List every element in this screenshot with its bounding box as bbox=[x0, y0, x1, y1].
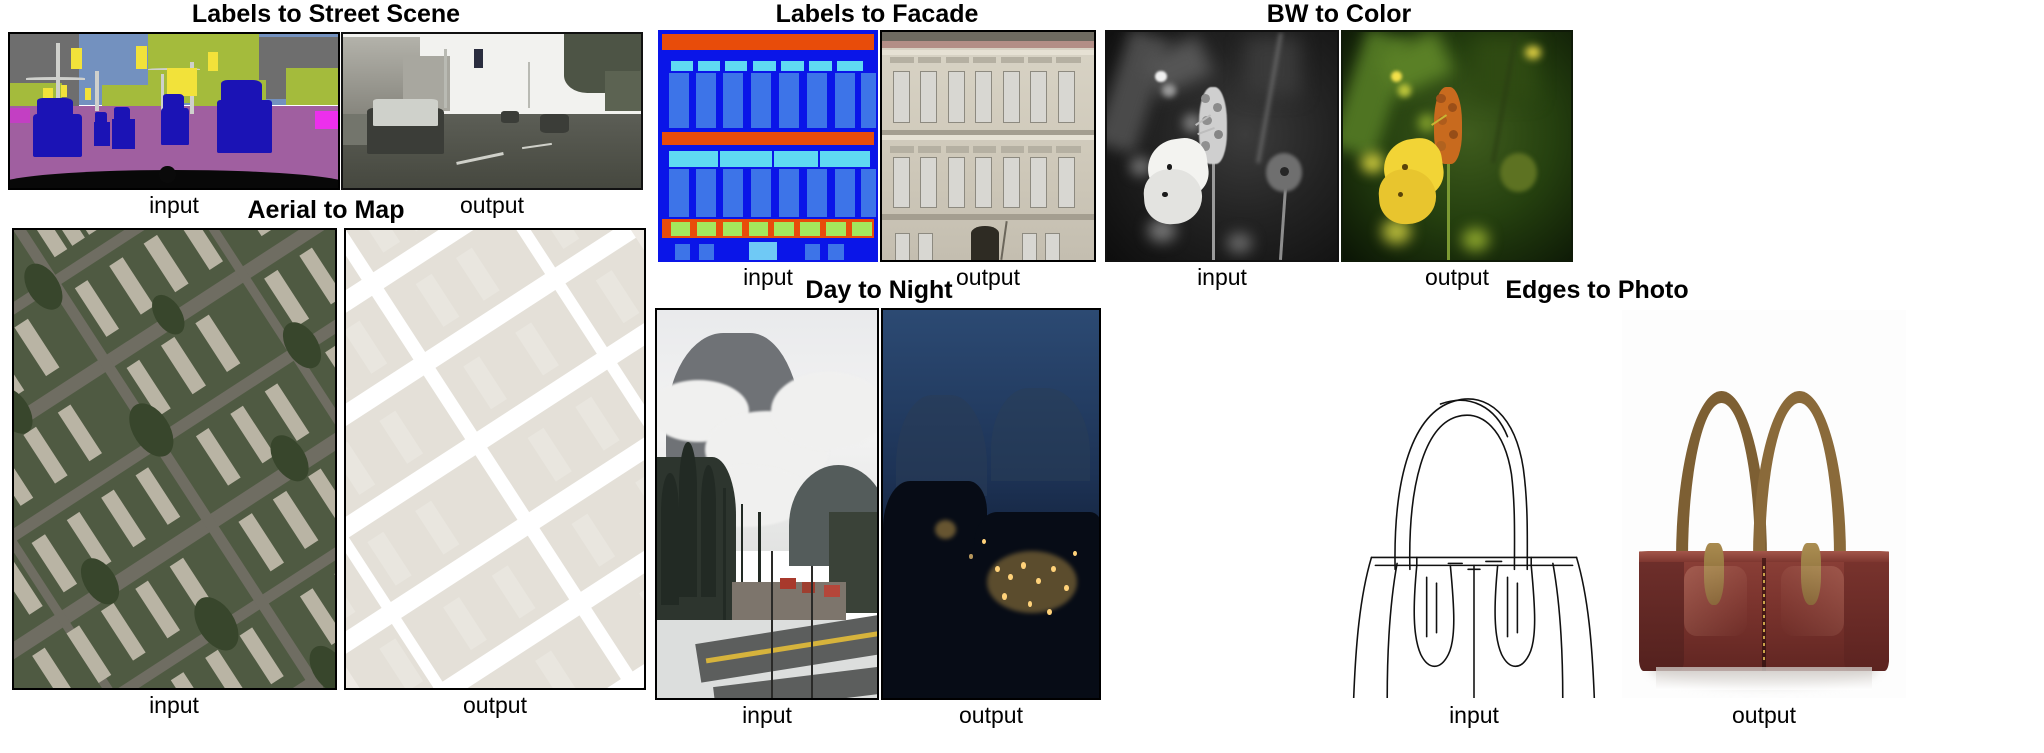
cell-input-bw-to-color: input bbox=[1104, 30, 1340, 289]
cell-output-edges-to-photo: output bbox=[1619, 308, 1909, 727]
facade-label-cornice bbox=[662, 132, 874, 145]
panel-labels-to-street-scene: Labels to Street Scene bbox=[8, 2, 644, 214]
facade-photo-cornice bbox=[882, 214, 1094, 219]
facade-photo-lintel bbox=[1001, 57, 1024, 62]
label-region-person bbox=[159, 166, 175, 183]
panel-title-edges-to-photo: Edges to Photo bbox=[1150, 278, 2044, 303]
facade-photo-lintel bbox=[890, 57, 913, 62]
photo-region-car bbox=[540, 114, 570, 132]
day-conifer bbox=[701, 465, 716, 597]
panel-title-day-to-night: Day to Night bbox=[654, 278, 1104, 303]
day-town-roof bbox=[780, 578, 795, 590]
facade-label-shop bbox=[723, 222, 742, 236]
facade-photo-window bbox=[1058, 71, 1075, 123]
caption-input-day: input bbox=[742, 703, 792, 727]
cell-input-labels-to-facade: input bbox=[657, 30, 879, 289]
facade-label-sill bbox=[837, 61, 863, 71]
label-region-pole bbox=[26, 77, 85, 79]
label-region-traffic-light bbox=[136, 46, 146, 69]
cell-input-edges-to-photo: input bbox=[1329, 308, 1619, 727]
image-pair-bw-to-color: input bbox=[1104, 30, 1574, 289]
facade-label-window bbox=[669, 169, 690, 217]
color-bokeh bbox=[1361, 153, 1384, 174]
cell-input-aerial-to-map: input bbox=[8, 228, 340, 717]
facade-photo-window bbox=[1030, 71, 1047, 123]
label-region-sign bbox=[61, 85, 68, 97]
facade-photo-window bbox=[1022, 233, 1037, 262]
facade-label-sill bbox=[820, 151, 870, 167]
photo-region-traffic-light bbox=[474, 49, 483, 67]
facade-photo-lintel bbox=[1001, 146, 1024, 153]
caption-output-map: output bbox=[463, 693, 527, 717]
image-pair-aerial-to-map: input bbox=[8, 228, 647, 717]
color-flower-floret bbox=[1436, 94, 1445, 103]
facade-label-window bbox=[861, 73, 876, 128]
facade-photo-band bbox=[882, 135, 1094, 140]
cell-output-labels-to-facade: output bbox=[879, 30, 1097, 289]
facade-label-window bbox=[807, 73, 828, 128]
day-conifer bbox=[661, 473, 679, 605]
facade-photo-lintel bbox=[1056, 146, 1081, 153]
facade-label-shop bbox=[852, 222, 871, 236]
handbag-base-reflection bbox=[1656, 667, 1872, 690]
facade-photo-window bbox=[1045, 233, 1060, 262]
image-handbag-output[interactable] bbox=[1620, 308, 1908, 700]
label-region-car bbox=[33, 114, 82, 157]
facade-label-sill bbox=[725, 61, 748, 71]
image-facade-input[interactable] bbox=[658, 30, 878, 262]
facade-photo-lintel bbox=[890, 146, 913, 153]
image-pair-edges-to-photo: input bbox=[1329, 308, 1909, 727]
facade-label-shop bbox=[800, 222, 819, 236]
bw-bokeh bbox=[1155, 71, 1167, 82]
facade-photo-window bbox=[920, 71, 937, 123]
facade-photo-lintel bbox=[973, 57, 996, 62]
facade-photo-window bbox=[948, 71, 965, 123]
facade-photo-window bbox=[895, 233, 910, 262]
cell-output-bw-to-color: output bbox=[1340, 30, 1574, 289]
image-labels-street-input[interactable] bbox=[8, 32, 340, 190]
photo-region-pole bbox=[528, 62, 530, 108]
night-light bbox=[1028, 601, 1032, 607]
label-region-traffic-light bbox=[208, 52, 217, 70]
label-region-pole bbox=[95, 71, 98, 111]
facade-photo-band bbox=[882, 50, 1094, 55]
facade-photo-lintel bbox=[918, 146, 941, 153]
facade-label-shop bbox=[671, 222, 690, 236]
facade-label-window bbox=[696, 169, 717, 217]
facade-label-window bbox=[828, 244, 843, 262]
night-ground bbox=[883, 613, 1099, 700]
night-light bbox=[969, 554, 972, 559]
bw-butterfly-spot bbox=[1167, 164, 1173, 169]
facade-photo-lintel bbox=[1028, 146, 1051, 153]
night-glow bbox=[935, 520, 957, 539]
facade-label-window bbox=[699, 244, 714, 262]
facade-label-window bbox=[675, 244, 690, 262]
cell-output-day-to-night: output bbox=[880, 308, 1102, 727]
color-butterfly-spot bbox=[1402, 164, 1407, 169]
facade-label-sill bbox=[774, 151, 817, 167]
facade-label-sill bbox=[720, 151, 772, 167]
handbag-edge-drawing bbox=[1332, 310, 1616, 698]
facade-photo-lintel bbox=[1056, 57, 1081, 62]
image-pair-labels-to-facade: input bbox=[657, 30, 1097, 289]
photo-region-car bbox=[501, 111, 519, 123]
facade-label-window bbox=[835, 73, 856, 128]
facade-photo-window bbox=[1003, 157, 1020, 207]
day-cloud bbox=[771, 372, 879, 450]
label-region-car bbox=[94, 122, 110, 147]
facade-label-shop bbox=[826, 222, 845, 236]
label-region-car bbox=[112, 119, 135, 150]
image-bw-input[interactable] bbox=[1105, 30, 1339, 262]
facade-photo-window bbox=[893, 71, 910, 123]
image-pair-day-to-night: input bbox=[654, 308, 1102, 727]
facade-photo-lintel bbox=[973, 146, 996, 153]
bw-flower-floret bbox=[1213, 103, 1222, 112]
facade-label-sill bbox=[669, 151, 719, 167]
image-aerial-input[interactable] bbox=[12, 228, 337, 690]
handbag-body-right-gusset bbox=[1844, 554, 1889, 670]
facade-photo-frieze bbox=[882, 41, 1094, 48]
night-light bbox=[1036, 578, 1040, 584]
panel-bw-to-color: BW to Color bbox=[1104, 2, 1574, 292]
night-town-glow bbox=[987, 551, 1078, 613]
facade-photo-window bbox=[975, 71, 992, 123]
facade-photo-roof bbox=[882, 32, 1094, 41]
facade-label-sill bbox=[753, 61, 776, 71]
handbag-body-left-gusset bbox=[1639, 554, 1684, 670]
cell-input-labels-to-street-scene: input bbox=[8, 32, 340, 217]
image-day-input[interactable] bbox=[655, 308, 879, 700]
bw-butterfly-spot bbox=[1162, 192, 1168, 197]
cell-input-day-to-night: input bbox=[654, 308, 880, 727]
day-bare-tree bbox=[723, 488, 726, 620]
caption-input-aerial: input bbox=[149, 693, 199, 717]
label-region-pole bbox=[56, 43, 60, 105]
caption-output-handbag: output bbox=[1732, 703, 1796, 727]
facade-photo-window bbox=[893, 157, 910, 207]
facade-label-shop bbox=[774, 222, 793, 236]
facade-label-window bbox=[779, 169, 800, 217]
facade-photo-lintel bbox=[946, 146, 969, 153]
color-bokeh bbox=[1398, 84, 1412, 97]
facade-label-shop bbox=[749, 222, 768, 236]
panel-title-labels-to-facade: Labels to Facade bbox=[657, 2, 1097, 27]
photo-region-car bbox=[373, 99, 439, 127]
color-bokeh bbox=[1525, 46, 1541, 60]
facade-label-door bbox=[749, 242, 777, 262]
night-light bbox=[1008, 574, 1012, 580]
facade-label-window bbox=[751, 169, 772, 217]
panel-day-to-night: Day to Night bbox=[654, 278, 1104, 750]
photo-region-tree bbox=[605, 71, 641, 111]
aerial-street-grid bbox=[12, 228, 337, 690]
label-region-traffic-light bbox=[71, 48, 82, 70]
facade-label-sill bbox=[781, 61, 804, 71]
image-map-output[interactable] bbox=[344, 228, 646, 690]
color-flower-floret bbox=[1448, 103, 1457, 112]
facade-label-window bbox=[723, 73, 744, 128]
label-region-car bbox=[217, 100, 273, 152]
label-region-sidewalk bbox=[315, 111, 338, 129]
facade-label-window bbox=[751, 73, 772, 128]
panel-aerial-to-map: Aerial to Map bbox=[8, 198, 644, 750]
image-night-output[interactable] bbox=[881, 308, 1101, 700]
facade-label-sill bbox=[809, 61, 832, 71]
handbag-highlight bbox=[1781, 566, 1843, 636]
facade-label-shop bbox=[697, 222, 716, 236]
facade-photo-window bbox=[1003, 71, 1020, 123]
bw-flower-stem bbox=[1212, 151, 1215, 260]
facade-label-window bbox=[835, 169, 856, 217]
facade-label-sill bbox=[671, 61, 694, 71]
facade-label-window bbox=[861, 169, 876, 217]
facade-photo-window bbox=[920, 157, 937, 207]
bw-bokeh bbox=[1227, 233, 1252, 254]
label-region-sign bbox=[167, 68, 197, 96]
handbag-stitching bbox=[1763, 566, 1765, 663]
day-town-roof bbox=[802, 582, 815, 594]
day-utility-pole bbox=[771, 551, 773, 698]
night-light bbox=[1064, 585, 1068, 591]
handbag-highlight bbox=[1684, 566, 1746, 636]
facade-label-window bbox=[723, 169, 744, 217]
color-flower-stem bbox=[1447, 151, 1450, 260]
color-bokeh bbox=[1462, 228, 1489, 251]
pix2pix-teaser-figure: Labels to Street Scene bbox=[0, 0, 2044, 753]
facade-photo-window bbox=[1030, 157, 1047, 207]
facade-label-sill bbox=[698, 61, 721, 71]
facade-photo-doorway bbox=[971, 226, 999, 262]
panel-title-aerial-to-map: Aerial to Map bbox=[8, 198, 644, 223]
facade-photo-lintel bbox=[946, 57, 969, 62]
caption-output-night: output bbox=[959, 703, 1023, 727]
cell-output-aerial-to-map: output bbox=[343, 228, 647, 717]
image-pair-labels-to-street-scene: input bbox=[8, 32, 644, 217]
facade-photo-window bbox=[1058, 157, 1075, 207]
night-light bbox=[1047, 609, 1052, 615]
panel-title-bw-to-color: BW to Color bbox=[1104, 2, 1574, 27]
photo-region-pole bbox=[444, 49, 446, 108]
day-utility-pole bbox=[811, 566, 813, 698]
caption-input-edges: input bbox=[1449, 703, 1499, 727]
facade-photo-window bbox=[918, 233, 933, 262]
facade-label-window bbox=[669, 73, 690, 128]
bw-seed-head-center bbox=[1280, 167, 1289, 176]
bw-bokeh bbox=[1162, 84, 1176, 97]
image-edges-input[interactable] bbox=[1330, 308, 1618, 700]
facade-label-cornice bbox=[662, 34, 874, 50]
cell-output-labels-to-street-scene: output bbox=[340, 32, 644, 217]
label-region-sidewalk bbox=[10, 108, 30, 123]
facade-photo-window bbox=[948, 157, 965, 207]
map-street-grid bbox=[344, 228, 646, 690]
day-conifer bbox=[679, 442, 697, 597]
panel-labels-to-facade: Labels to Facade bbox=[657, 2, 1097, 292]
image-facade-output[interactable] bbox=[880, 30, 1096, 262]
color-seed-head bbox=[1500, 153, 1536, 192]
facade-photo-lintel bbox=[1028, 57, 1051, 62]
night-light bbox=[1002, 593, 1007, 600]
panel-title-labels-to-street-scene: Labels to Street Scene bbox=[8, 2, 644, 27]
facade-label-window bbox=[696, 73, 717, 128]
label-region-vegetation bbox=[286, 68, 338, 105]
facade-photo-lintel bbox=[918, 57, 941, 62]
facade-photo-window bbox=[975, 157, 992, 207]
facade-label-window bbox=[805, 244, 820, 262]
image-labels-street-output[interactable] bbox=[341, 32, 643, 190]
facade-label-window bbox=[807, 169, 828, 217]
panel-edges-to-photo: Edges to Photo bbox=[1150, 278, 2044, 750]
label-region-sign bbox=[85, 88, 91, 100]
day-town-roof bbox=[824, 585, 839, 597]
label-region-car bbox=[161, 108, 189, 145]
facade-label-window bbox=[779, 73, 800, 128]
image-color-output[interactable] bbox=[1341, 30, 1573, 262]
